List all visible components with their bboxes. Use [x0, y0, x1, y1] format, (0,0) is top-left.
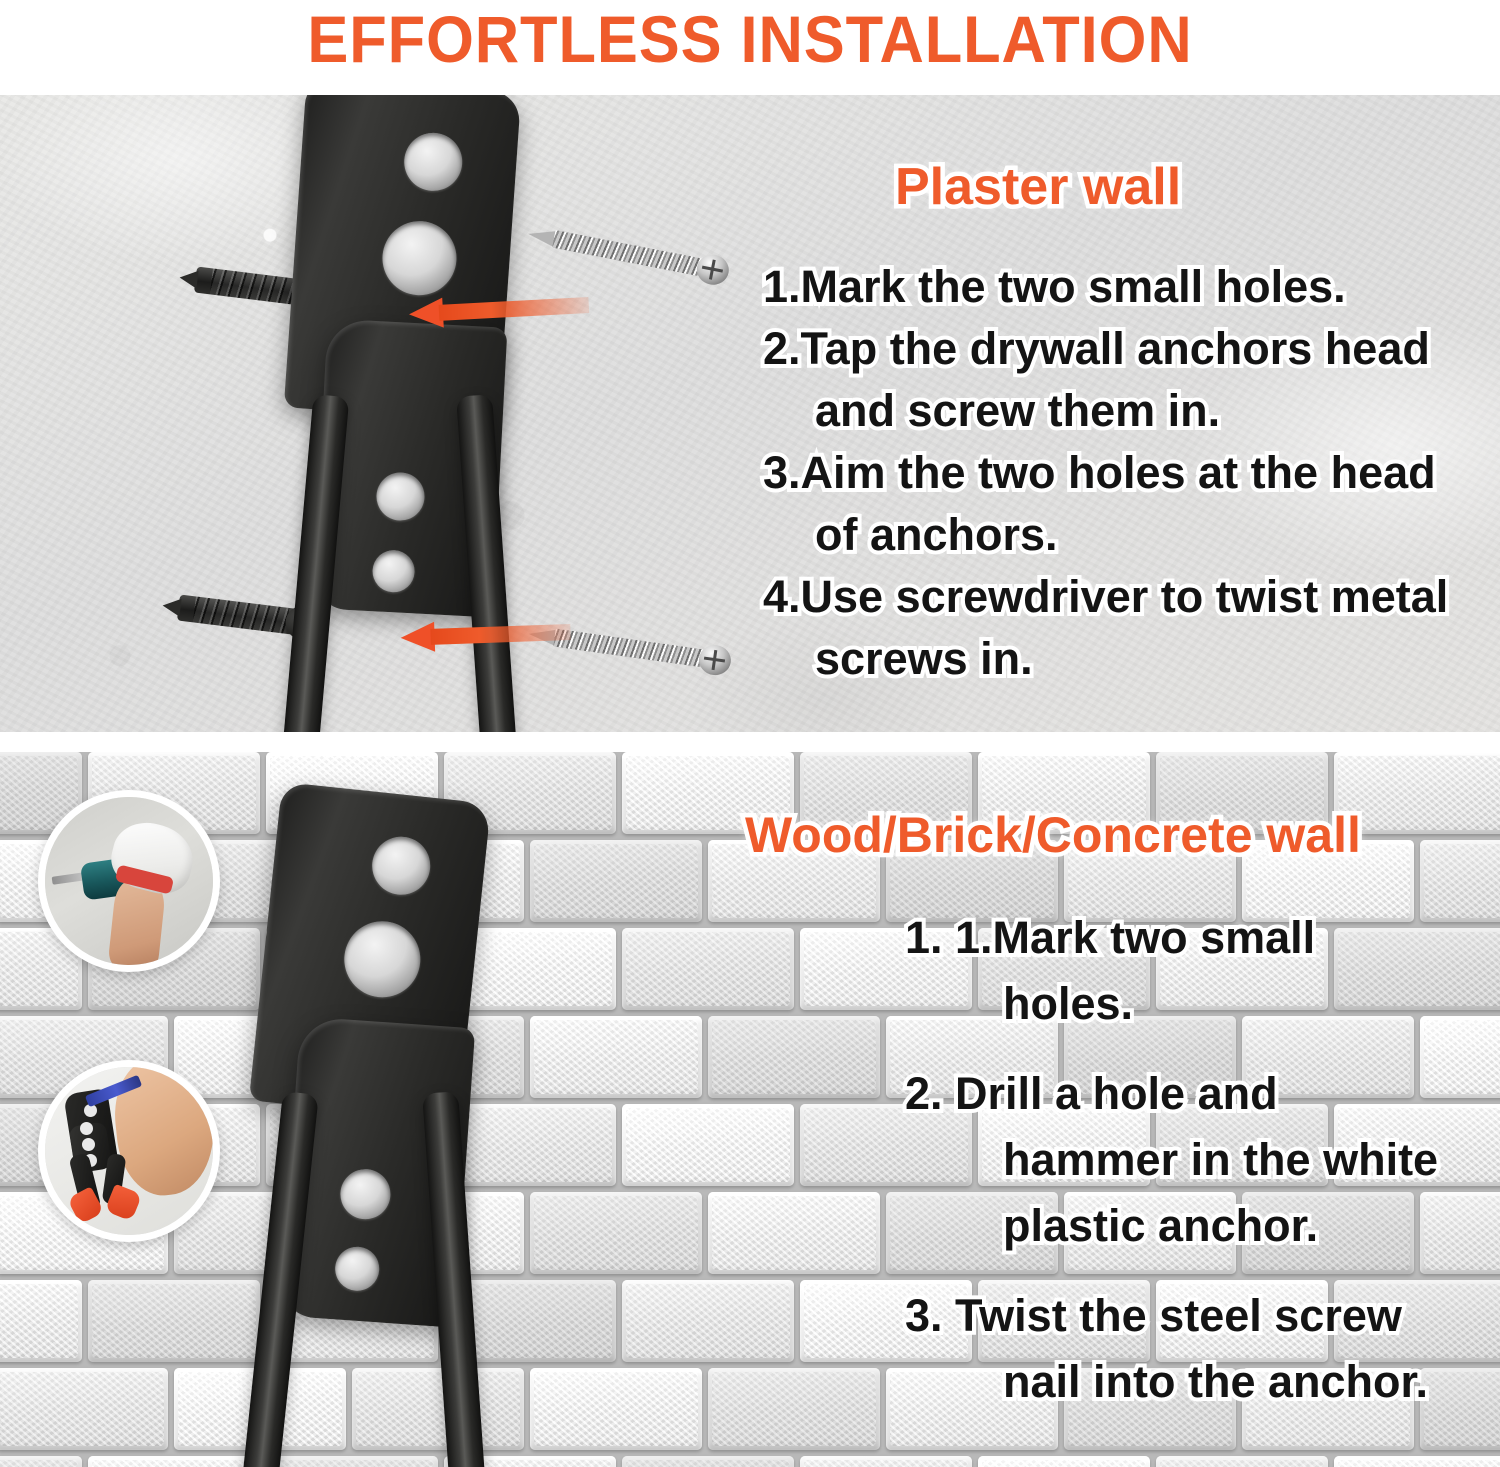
brick — [708, 1192, 880, 1274]
large-lower-hole — [341, 918, 425, 1002]
brick — [0, 1368, 168, 1450]
panel-heading-brick: Wood/Brick/Concrete wall — [745, 806, 1361, 864]
large-lower-hole — [380, 219, 459, 298]
brick — [1334, 1456, 1500, 1467]
small-lower-hole — [372, 549, 416, 593]
step-item: 3. Twist the steel screw nail into the a… — [905, 1283, 1450, 1415]
brick — [622, 1456, 794, 1467]
small-upper-hole — [402, 131, 464, 193]
installation-infographic: EFFORTLESS INSTALLATION — [0, 0, 1500, 1467]
brick — [88, 1456, 260, 1467]
brick — [800, 1456, 972, 1467]
step-item: 2. Drill a hole and hammer in the white … — [905, 1061, 1450, 1259]
brick — [708, 1016, 880, 1098]
steps-list-plaster: 1.Mark the two small holes. 2.Tap the dr… — [763, 256, 1453, 690]
steps-list-brick: 1. 1.Mark two small holes. 2. Drill a ho… — [905, 905, 1450, 1415]
brick — [530, 1016, 702, 1098]
step-item: 4.Use screwdriver to twist metal screws … — [763, 566, 1453, 690]
brick — [444, 1104, 616, 1186]
step-item: 1. 1.Mark two small holes. — [905, 905, 1450, 1037]
panel-heading-plaster: Plaster wall — [895, 157, 1181, 217]
panel-plaster-wall: Plaster wall 1.Mark the two small holes.… — [0, 95, 1500, 732]
panel-brick-wall: Wood/Brick/Concrete wall 1. 1.Mark two s… — [0, 752, 1500, 1467]
brick — [530, 1192, 702, 1274]
small-upper-hole — [369, 834, 433, 898]
marking-holes-photo — [38, 1060, 220, 1242]
small-upper-hole — [375, 471, 425, 521]
page-title: EFFORTLESS INSTALLATION — [53, 0, 1448, 92]
brick — [352, 1368, 524, 1450]
brick — [622, 928, 794, 1010]
step-item: 2.Tap the drywall anchors head and screw… — [763, 318, 1453, 442]
brick — [266, 1456, 438, 1467]
brick — [622, 1280, 794, 1362]
brick — [708, 1368, 880, 1450]
step-item: 1.Mark the two small holes. — [763, 256, 1453, 318]
brick — [622, 1104, 794, 1186]
brick — [0, 1280, 82, 1362]
small-lower-hole — [334, 1245, 381, 1292]
brick — [0, 1456, 82, 1467]
small-upper-hole — [339, 1168, 392, 1221]
brick — [88, 1280, 260, 1362]
brick — [530, 840, 702, 922]
step-item: 3.Aim the two holes at the head of ancho… — [763, 442, 1453, 566]
drilling-hole-photo — [38, 790, 220, 972]
brick-row — [0, 1456, 1500, 1467]
brick — [530, 1368, 702, 1450]
brick — [978, 1456, 1150, 1467]
brick — [1156, 1456, 1328, 1467]
